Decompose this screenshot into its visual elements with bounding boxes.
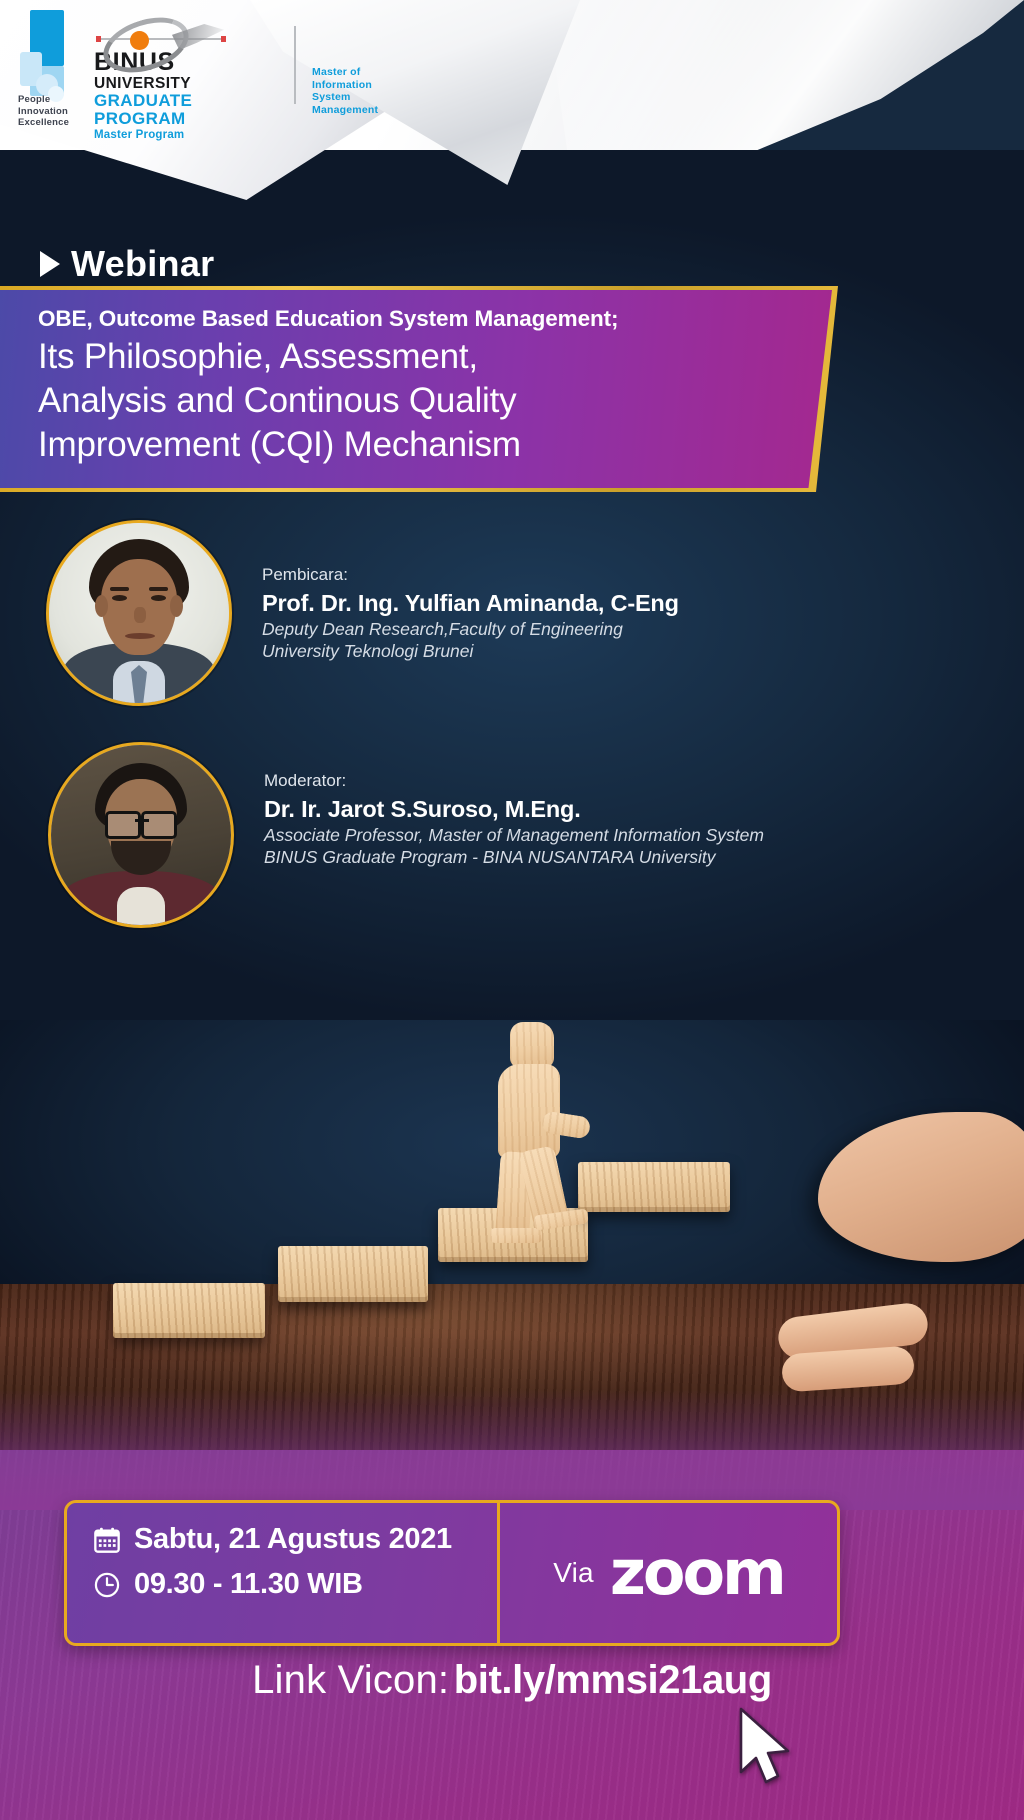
- vicon-link-url[interactable]: bit.ly/mmsi21aug: [454, 1658, 772, 1702]
- binus-swirl-icon: [94, 18, 284, 54]
- moderator-role-label: Moderator:: [264, 770, 928, 792]
- webinar-label: Webinar: [71, 243, 214, 285]
- speaker-affiliation-line1: Deputy Dean Research,Faculty of Engineer…: [262, 618, 906, 640]
- title-line-1: Its Philosophie, Assessment,: [38, 335, 792, 379]
- schedule-left: Sabtu, 21 Agustus 2021 09.30 - 11.30 WIB: [67, 1503, 497, 1643]
- binus-wordmark-block: BINUS UNIVERSITY GRADUATE PROGRAM Master…: [94, 8, 284, 142]
- play-triangle-icon: [40, 251, 60, 277]
- schedule-box: Sabtu, 21 Agustus 2021 09.30 - 11.30 WIB…: [64, 1500, 840, 1646]
- moderator-avatar: [48, 742, 234, 928]
- pie-tagline-line1: People: [18, 94, 88, 106]
- climbing-figure-icon: [476, 1022, 588, 1268]
- pie-tagline-line3: Excellence: [18, 117, 88, 129]
- schedule-time-row: 09.30 - 11.30 WIB: [93, 1568, 497, 1601]
- footer-gradient-fade: [0, 1390, 1024, 1510]
- brand-graduate: GRADUATE: [94, 92, 284, 110]
- brand-program: PROGRAM: [94, 110, 284, 128]
- pie-tagline-line2: Innovation: [18, 106, 88, 118]
- title-line-2: Analysis and Continous Quality: [38, 379, 792, 423]
- via-label: Via: [553, 1557, 594, 1589]
- calendar-icon: [93, 1526, 121, 1554]
- speaker-avatar: [46, 520, 232, 706]
- title-subtitle: OBE, Outcome Based Education System Mana…: [38, 306, 792, 332]
- wood-block-2: [278, 1246, 428, 1302]
- schedule-date-row: Sabtu, 21 Agustus 2021: [93, 1523, 497, 1556]
- moderator-name: Dr. Ir. Jarot S.Suroso, M.Eng.: [264, 794, 928, 824]
- title-banner: OBE, Outcome Based Education System Mana…: [0, 290, 832, 488]
- title-line-3: Improvement (CQI) Mechanism: [38, 423, 792, 467]
- vicon-link-row: Link Vicon: bit.ly/mmsi21aug: [0, 1658, 1024, 1703]
- schedule-time: 09.30 - 11.30 WIB: [134, 1568, 363, 1601]
- webinar-poster: People Innovation Excellence BINUS UNIVE…: [0, 0, 1024, 1820]
- schedule-date: Sabtu, 21 Agustus 2021: [134, 1523, 452, 1556]
- program-name-line1: Master of Information: [312, 66, 378, 91]
- speaker-affiliation-line2: University Teknologi Brunei: [262, 640, 906, 662]
- program-name: Master of Information System Management: [312, 66, 378, 116]
- speaker-block: Pembicara: Prof. Dr. Ing. Yulfian Aminan…: [46, 520, 906, 706]
- zoom-logo: zoom: [610, 1544, 784, 1602]
- platform-block: Via zoom: [500, 1503, 837, 1643]
- wood-block-1: [113, 1283, 265, 1338]
- pie-tagline: People Innovation Excellence: [18, 94, 88, 129]
- wood-block-4: [578, 1162, 730, 1212]
- mouse-cursor-icon: [735, 1706, 797, 1790]
- speaker-name: Prof. Dr. Ing. Yulfian Aminanda, C-Eng: [262, 588, 906, 618]
- logo-divider: [294, 26, 296, 104]
- binus-logo-group: People Innovation Excellence BINUS UNIVE…: [18, 8, 284, 142]
- program-name-line2: System Management: [312, 91, 378, 116]
- speaker-role-label: Pembicara:: [262, 564, 906, 586]
- webinar-kicker: Webinar: [40, 243, 214, 285]
- brand-university: UNIVERSITY: [94, 75, 284, 92]
- people-innovation-excellence-icon: People Innovation Excellence: [18, 8, 70, 116]
- moderator-affiliation-line1: Associate Professor, Master of Managemen…: [264, 824, 928, 846]
- brand-master-program: Master Program: [94, 128, 284, 142]
- clock-icon: [93, 1571, 121, 1599]
- moderator-affiliation-line2: BINUS Graduate Program - BINA NUSANTARA …: [264, 846, 928, 868]
- moderator-block: Moderator: Dr. Ir. Jarot S.Suroso, M.Eng…: [48, 742, 928, 928]
- vicon-link-label: Link Vicon:: [252, 1658, 449, 1702]
